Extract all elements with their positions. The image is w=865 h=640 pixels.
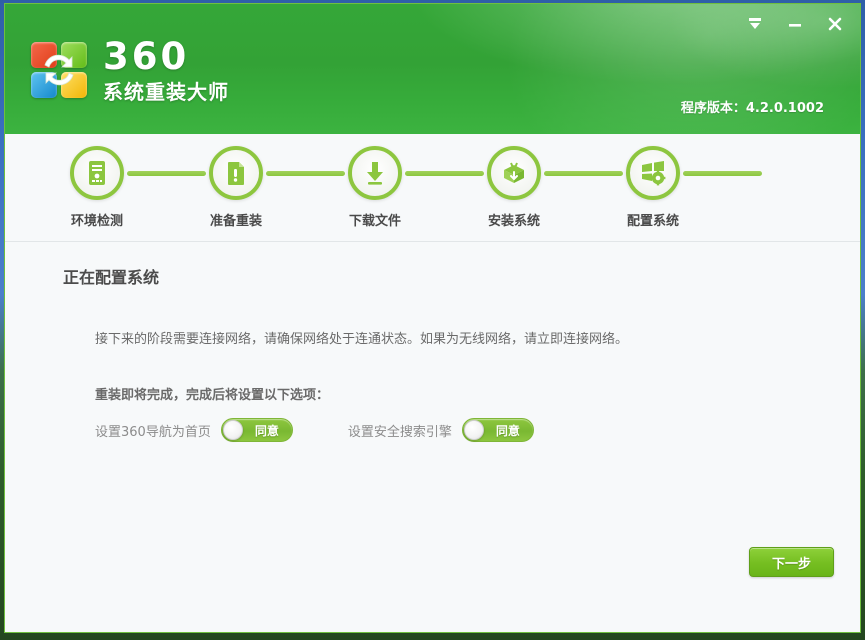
toggle-set-search-engine[interactable]: 同意 — [462, 418, 534, 442]
logo-refresh-arrows-icon — [37, 48, 81, 92]
step-connector-trailing — [683, 171, 762, 176]
step-item-configure-system: 配置系统 — [623, 146, 683, 229]
step-label: 准备重装 — [210, 210, 262, 229]
skin-down-arrow-icon[interactable] — [744, 14, 766, 34]
option-label: 设置安全搜索引擎 — [348, 421, 452, 440]
step-indicator-bar: 环境检测 准备重装 — [5, 134, 860, 242]
toggle-knob — [223, 420, 243, 440]
step-label: 环境检测 — [71, 210, 123, 229]
close-icon[interactable] — [824, 14, 846, 34]
step-circle — [209, 146, 263, 200]
options-row: 设置360导航为首页 同意 设置安全搜索引擎 同意 — [95, 418, 534, 442]
toggle-set-homepage[interactable]: 同意 — [221, 418, 293, 442]
step-list: 环境检测 准备重装 — [67, 146, 762, 229]
step-item-environment-check: 环境检测 — [67, 146, 127, 229]
step-circle — [348, 146, 402, 200]
step-label: 配置系统 — [627, 210, 679, 229]
brand-text: 360 系统重装大师 — [103, 38, 229, 102]
360-logo-icon — [31, 42, 87, 98]
network-notice-text: 接下来的阶段需要连接网络，请确保网络处于连通状态。如果为无线网络，请立即连接网络… — [95, 328, 628, 347]
toggle-knob — [464, 420, 484, 440]
step-item-install-system: 安装系统 — [484, 146, 544, 229]
options-prompt-text: 重装即将完成，完成后将设置以下选项： — [95, 384, 329, 403]
step-connector — [127, 171, 206, 176]
step-connector — [405, 171, 484, 176]
page-title: 正在配置系统 — [63, 264, 159, 288]
install-box-icon — [500, 159, 528, 187]
minimize-icon[interactable] — [784, 14, 806, 34]
option-label: 设置360导航为首页 — [95, 421, 211, 440]
step-item-prepare-reinstall: 准备重装 — [206, 146, 266, 229]
step-connector — [544, 171, 623, 176]
toggle-label: 同意 — [255, 422, 279, 439]
application-window: 360 系统重装大师 程序版本：4.2.0.1002 — [4, 3, 861, 633]
window-header: 360 系统重装大师 程序版本：4.2.0.1002 — [5, 4, 860, 134]
document-alert-icon — [223, 159, 249, 187]
download-arrow-icon — [361, 159, 389, 187]
version-label: 程序版本：4.2.0.1002 — [681, 97, 824, 116]
step-circle — [70, 146, 124, 200]
step-label: 安装系统 — [488, 210, 540, 229]
brand-logo: 360 系统重装大师 — [31, 38, 229, 102]
next-step-button[interactable]: 下一步 — [749, 547, 834, 577]
brand-number: 360 — [103, 38, 229, 75]
windows-gear-icon — [639, 159, 667, 187]
option-set-360-navigation-homepage: 设置360导航为首页 同意 — [95, 418, 293, 442]
step-circle — [626, 146, 680, 200]
step-item-download-files: 下载文件 — [345, 146, 405, 229]
option-set-safe-search-engine: 设置安全搜索引擎 同意 — [348, 418, 534, 442]
step-circle — [487, 146, 541, 200]
step-label: 下载文件 — [349, 210, 401, 229]
brand-subtitle: 系统重装大师 — [103, 82, 229, 102]
computer-tower-icon — [84, 159, 110, 187]
toggle-label: 同意 — [496, 422, 520, 439]
main-content: 正在配置系统 接下来的阶段需要连接网络，请确保网络处于连通状态。如果为无线网络，… — [5, 242, 860, 632]
window-controls — [744, 14, 846, 34]
step-connector — [266, 171, 345, 176]
